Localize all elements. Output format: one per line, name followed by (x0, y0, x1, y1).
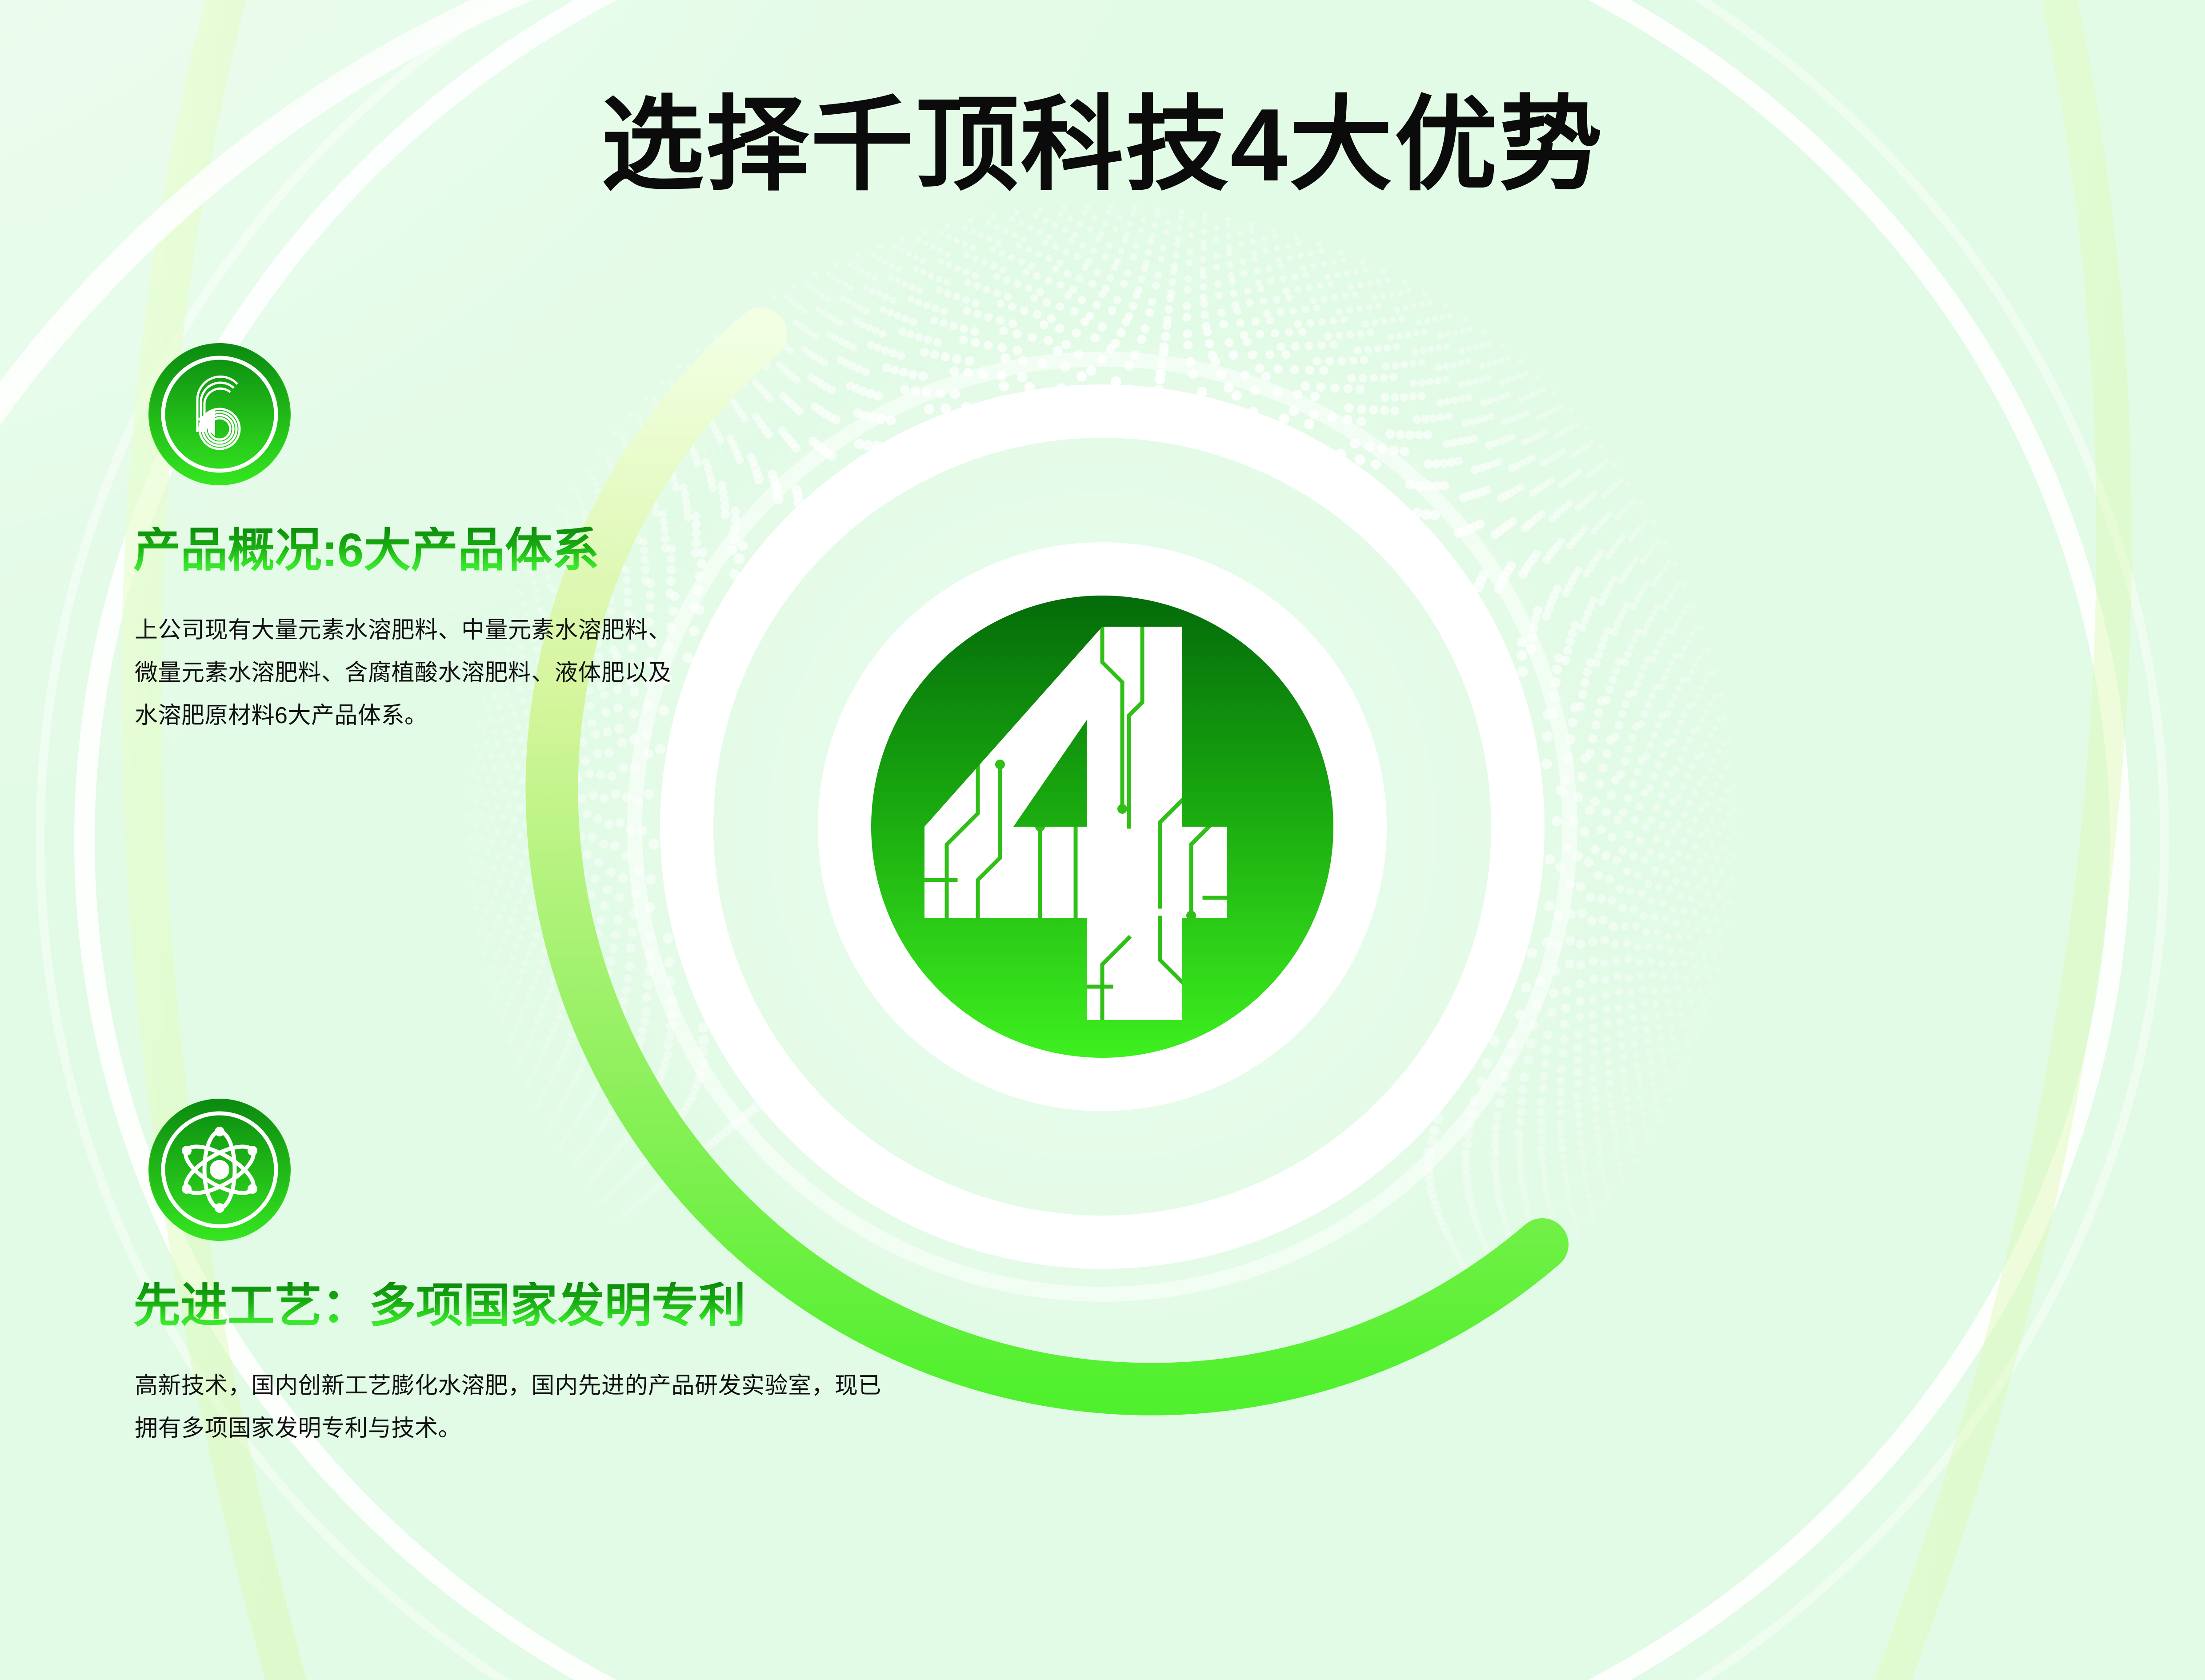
advantage-body: 上公司现有大量元素水溶肥料、中量元素水溶肥料、微量元素水溶肥料、含腐植酸水溶肥料… (135, 609, 688, 737)
atom-icon (148, 1099, 291, 1241)
advantage-body: 高新技术，国内创新工艺膨化水溶肥，国内先进的产品研发实验室，现已拥有多项国家发明… (135, 1364, 890, 1450)
number-six-badge-icon (148, 343, 291, 485)
center-medallion (791, 516, 1413, 1138)
infographic-canvas: 选择千顶科技4大优势 (0, 0, 2205, 1680)
advantage-headline: 产品概况:6大产品体系 (133, 527, 599, 574)
page-title: 选择千顶科技4大优势 (0, 91, 2205, 200)
advantage-headline: 先进工艺：多项国家发明专利 (133, 1282, 746, 1329)
